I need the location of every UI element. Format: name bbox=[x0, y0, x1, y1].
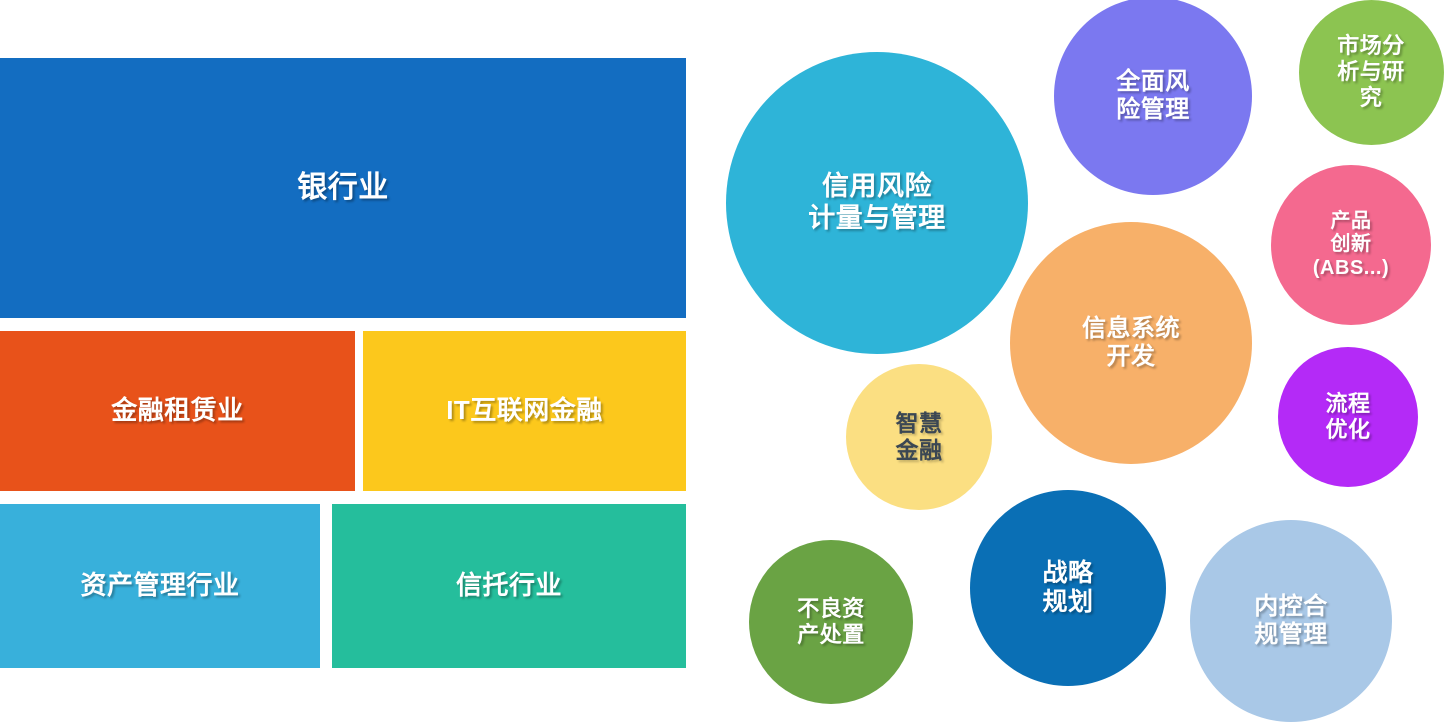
capability-bubble-strategic-planning[interactable]: 战略 规划 bbox=[970, 490, 1166, 686]
capability-bubble-comprehensive-risk[interactable]: 全面风 险管理 bbox=[1054, 0, 1252, 195]
capability-bubble-credit-risk[interactable]: 信用风险 计量与管理 bbox=[726, 52, 1028, 354]
capability-bubble-market-research[interactable]: 市场分 析与研 究 bbox=[1299, 0, 1444, 145]
capability-bubble-label: 内控合 规管理 bbox=[1254, 593, 1328, 650]
capability-bubble-label: 信用风险 计量与管理 bbox=[808, 171, 946, 235]
industry-block-label: 银行业 bbox=[297, 171, 389, 206]
capability-bubble-internal-control[interactable]: 内控合 规管理 bbox=[1190, 520, 1392, 722]
capability-bubble-smart-finance[interactable]: 智慧 金融 bbox=[846, 364, 992, 510]
capability-bubble-label: 战略 规划 bbox=[1042, 559, 1093, 618]
capability-bubble-product-innovation[interactable]: 产品 创新 (ABS...) bbox=[1271, 165, 1431, 325]
capability-bubble-label: 信息系统 开发 bbox=[1082, 315, 1180, 372]
diagram-canvas: 银行业金融租赁业IT互联网金融资产管理行业信托行业 信用风险 计量与管理全面风 … bbox=[0, 0, 1452, 726]
industry-block-trust[interactable]: 信托行业 bbox=[332, 504, 686, 668]
capability-bubble-label: 智慧 金融 bbox=[896, 410, 943, 464]
industry-block-label: 信托行业 bbox=[456, 571, 562, 601]
industry-block-it-internet-finance[interactable]: IT互联网金融 bbox=[363, 331, 686, 491]
capability-bubble-npl-disposal[interactable]: 不良资 产处置 bbox=[749, 540, 913, 704]
capability-bubble-label: 不良资 产处置 bbox=[797, 596, 865, 648]
industry-block-asset-management[interactable]: 资产管理行业 bbox=[0, 504, 320, 668]
capability-bubble-process-optimization[interactable]: 流程 优化 bbox=[1278, 347, 1418, 487]
industry-block-label: 金融租赁业 bbox=[111, 396, 244, 426]
capability-bubble-label: 产品 创新 (ABS...) bbox=[1313, 210, 1389, 281]
industry-block-label: IT互联网金融 bbox=[446, 396, 603, 426]
industry-block-banking[interactable]: 银行业 bbox=[0, 58, 686, 318]
industry-block-label: 资产管理行业 bbox=[80, 571, 239, 601]
industry-block-financial-leasing[interactable]: 金融租赁业 bbox=[0, 331, 355, 491]
capability-bubble-label: 流程 优化 bbox=[1325, 391, 1370, 443]
capability-bubble-label: 市场分 析与研 究 bbox=[1337, 33, 1405, 111]
capability-bubble-information-system[interactable]: 信息系统 开发 bbox=[1010, 222, 1252, 464]
capability-bubble-label: 全面风 险管理 bbox=[1116, 68, 1190, 125]
